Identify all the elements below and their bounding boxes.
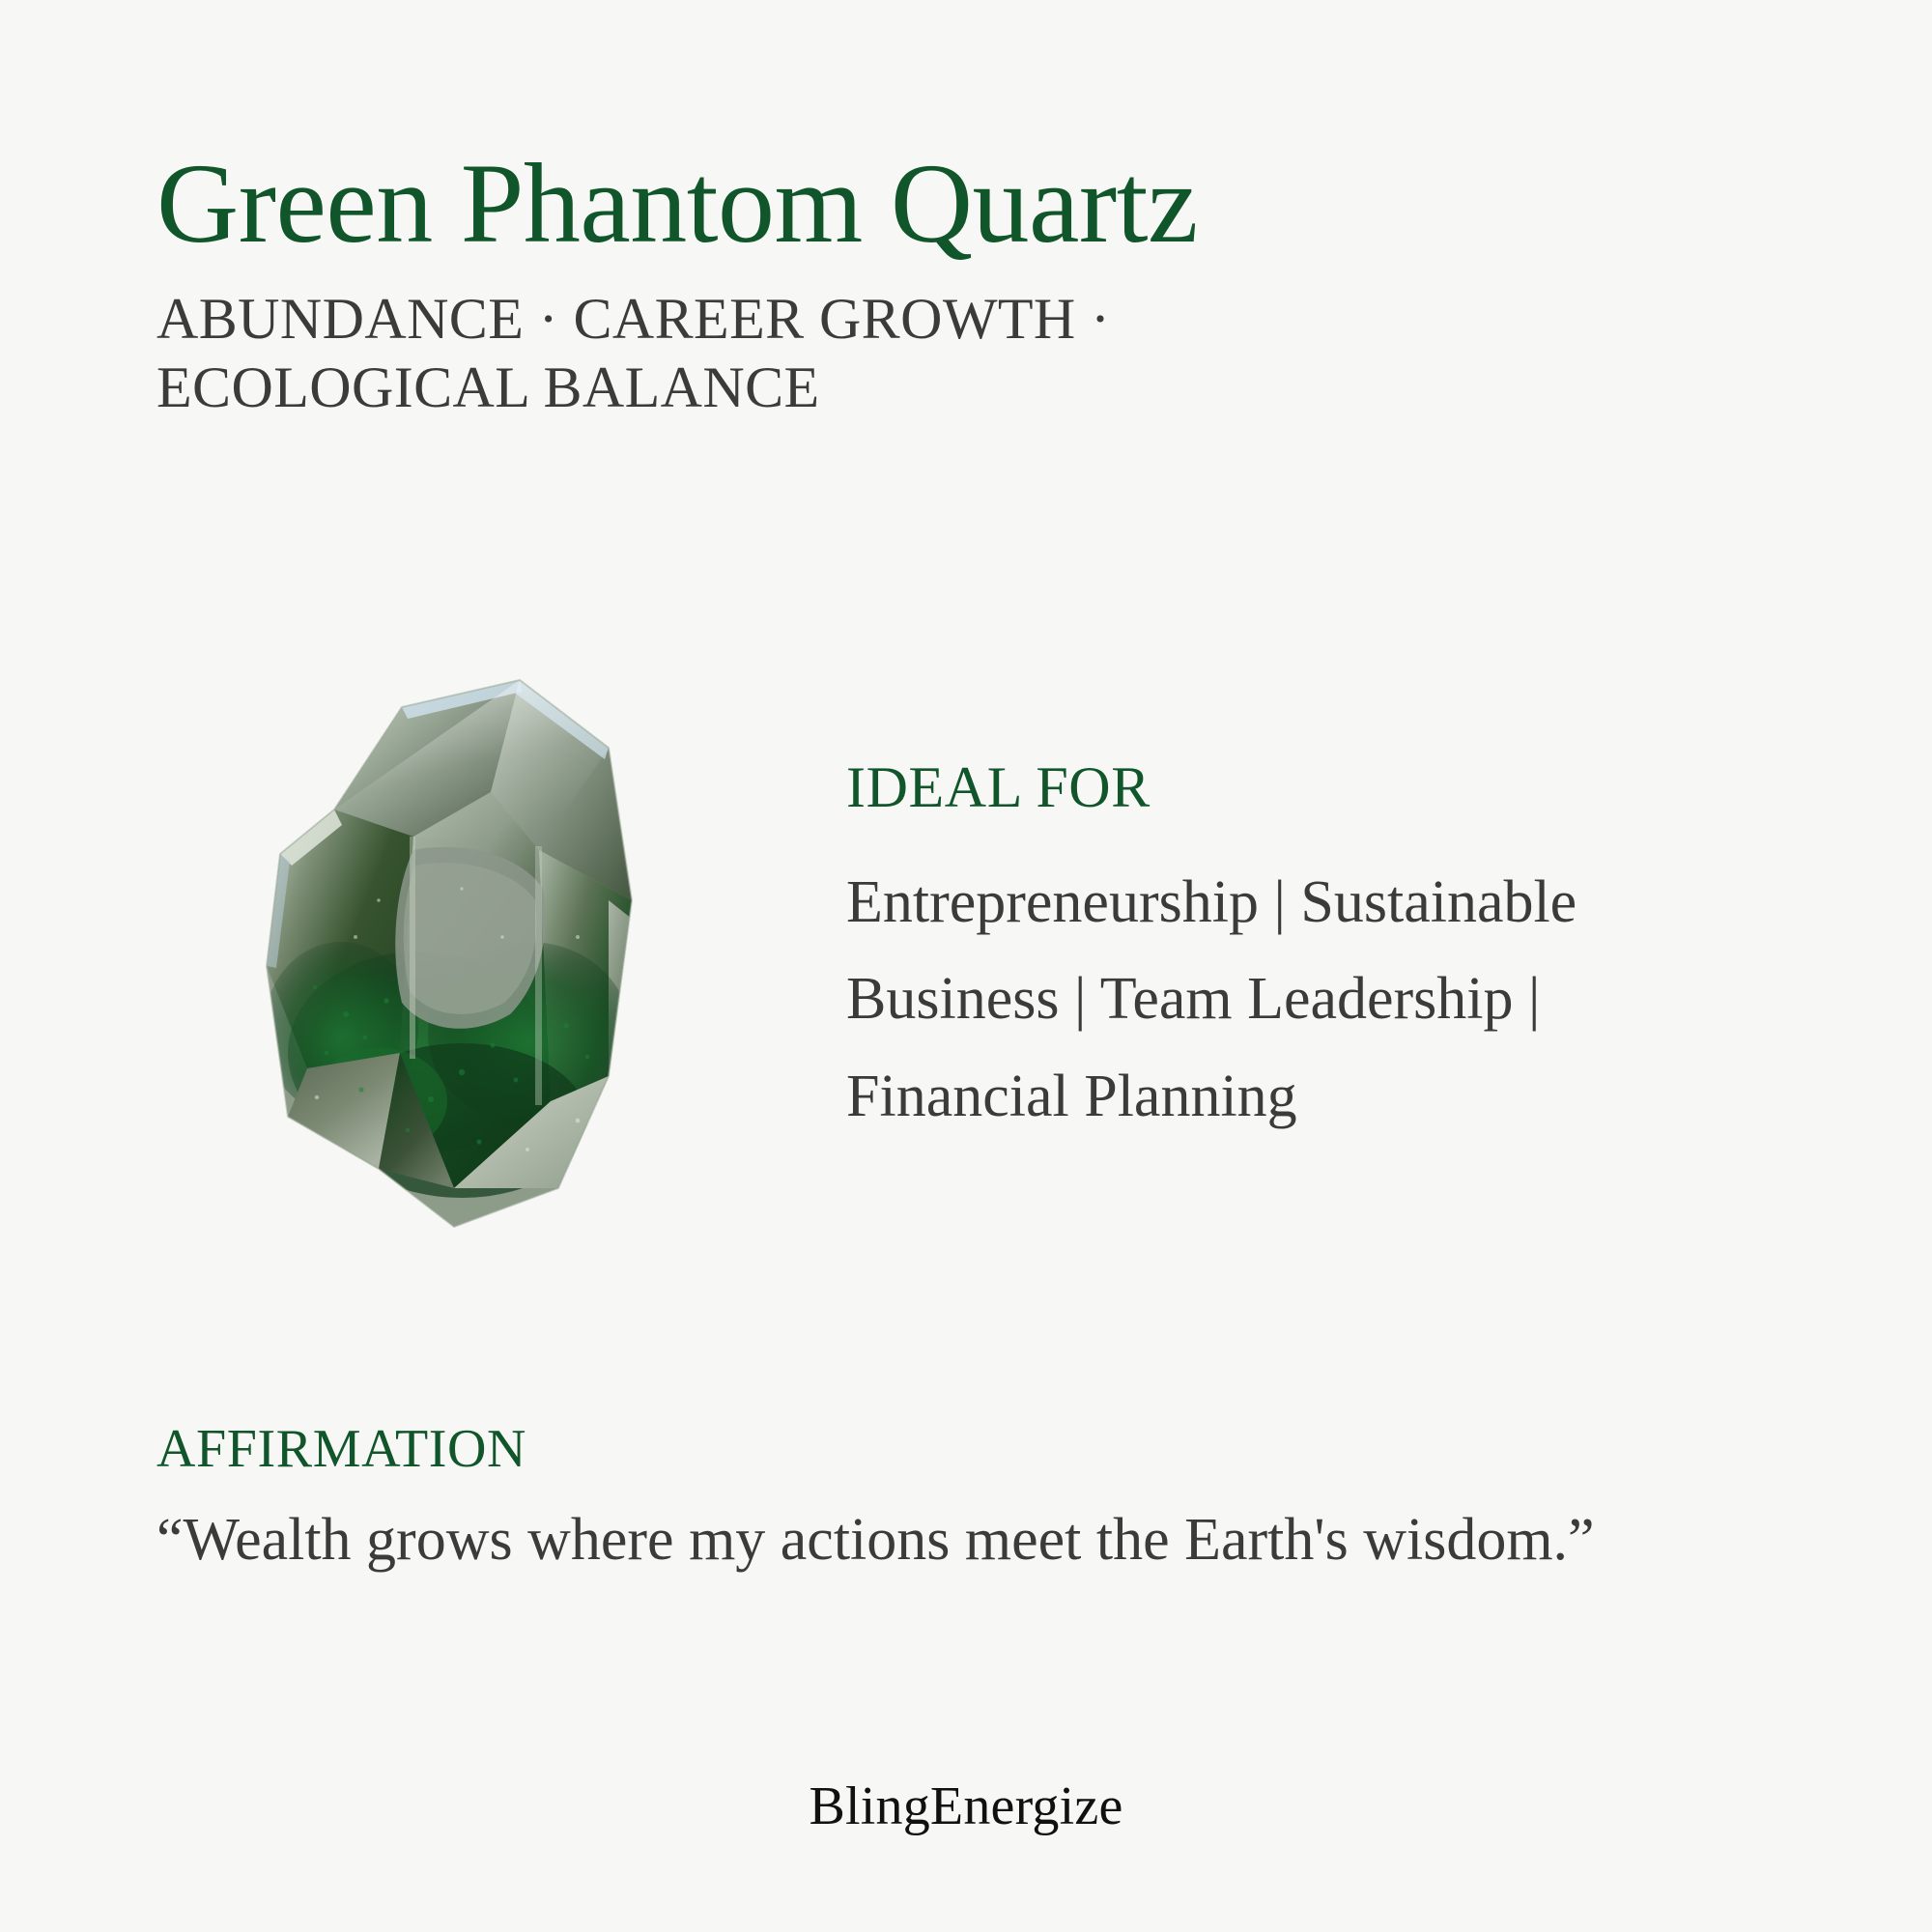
affirmation-quote: “Wealth grows where my actions meet the … bbox=[156, 1501, 1663, 1579]
ideal-for-section: IDEAL FOR Entrepreneurship | Sustainable… bbox=[846, 755, 1774, 1145]
ideal-for-label: IDEAL FOR bbox=[846, 755, 1774, 819]
crystal-info-card: Green Phantom Quartz ABUNDANCE · CAREER … bbox=[0, 0, 1932, 1932]
crystal-illustration bbox=[172, 647, 655, 1285]
ideal-for-body: Entrepreneurship | Sustainable Business … bbox=[846, 854, 1774, 1145]
crystal-image bbox=[172, 647, 655, 1285]
header-block: Green Phantom Quartz ABUNDANCE · CAREER … bbox=[156, 145, 1663, 421]
affirmation-section: AFFIRMATION “Wealth grows where my actio… bbox=[156, 1420, 1779, 1578]
brand-footer: BlingEnergize bbox=[0, 1776, 1932, 1837]
page-subtitle: ABUNDANCE · CAREER GROWTH · ECOLOGICAL B… bbox=[156, 285, 1374, 422]
brand-name: BlingEnergize bbox=[809, 1776, 1122, 1836]
affirmation-label: AFFIRMATION bbox=[156, 1420, 1779, 1480]
page-title: Green Phantom Quartz bbox=[156, 145, 1663, 264]
